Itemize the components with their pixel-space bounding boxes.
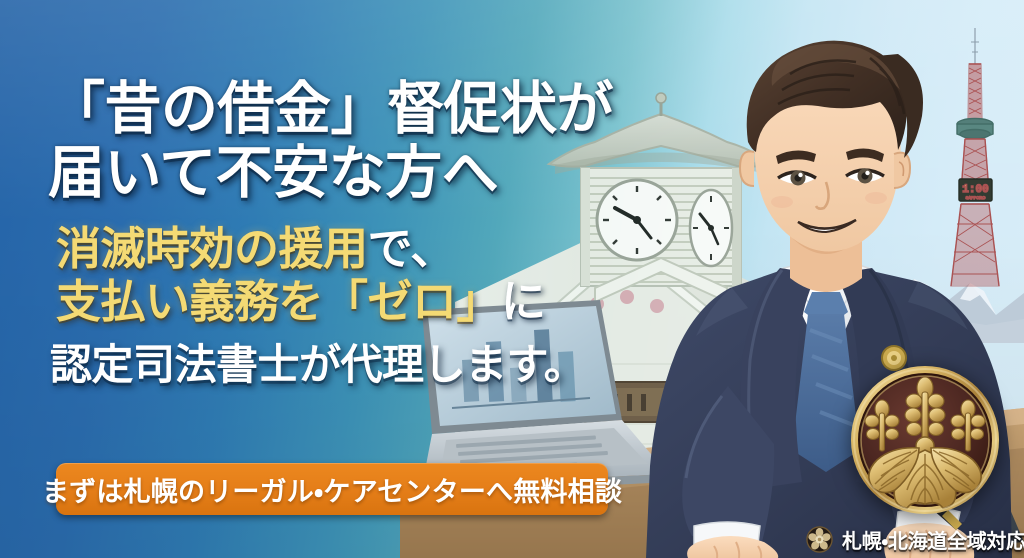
- free-consultation-cta-button[interactable]: まずは札幌のリーガル・ケアセンターへ無料相談: [56, 463, 608, 515]
- floral-seal-icon: [806, 526, 833, 553]
- subheadline-line-2-highlight: 支払い義務を「ゼロ」: [56, 276, 501, 327]
- promo-banner: 1:00 SAPPORO: [0, 0, 1024, 558]
- subheadline-line-1: 消滅時効の援用で、: [56, 222, 648, 275]
- area-badge-label: 札幌・北海道全域対応: [842, 525, 1024, 554]
- copy-block: 「昔の借金」督促状が 届いて不安な方へ 消滅時効の援用で、 支払い義務を「ゼロ」…: [48, 78, 648, 388]
- subheadline-line-1-rest: で、: [368, 223, 455, 274]
- subheadline-line-2: 支払い義務を「ゼロ」に: [56, 275, 648, 328]
- headline-line-1: 「昔の借金」督促状が: [48, 78, 648, 142]
- area-badge: 札幌・北海道全域対応: [806, 524, 1024, 554]
- subheadline-line-2-rest: に: [501, 276, 546, 327]
- headline-line-2: 届いて不安な方へ: [48, 142, 648, 206]
- paulownia-crest-icon: [849, 364, 1001, 516]
- headline: 「昔の借金」督促状が 届いて不安な方へ: [48, 78, 648, 206]
- cta-label: まずは札幌のリーガル・ケアセンターへ無料相談: [42, 470, 622, 509]
- subheadline: 消滅時効の援用で、 支払い義務を「ゼロ」に: [56, 222, 648, 328]
- statement-line: 認定司法書士が代理します。: [50, 342, 648, 388]
- subheadline-line-1-highlight: 消滅時効の援用: [56, 223, 368, 274]
